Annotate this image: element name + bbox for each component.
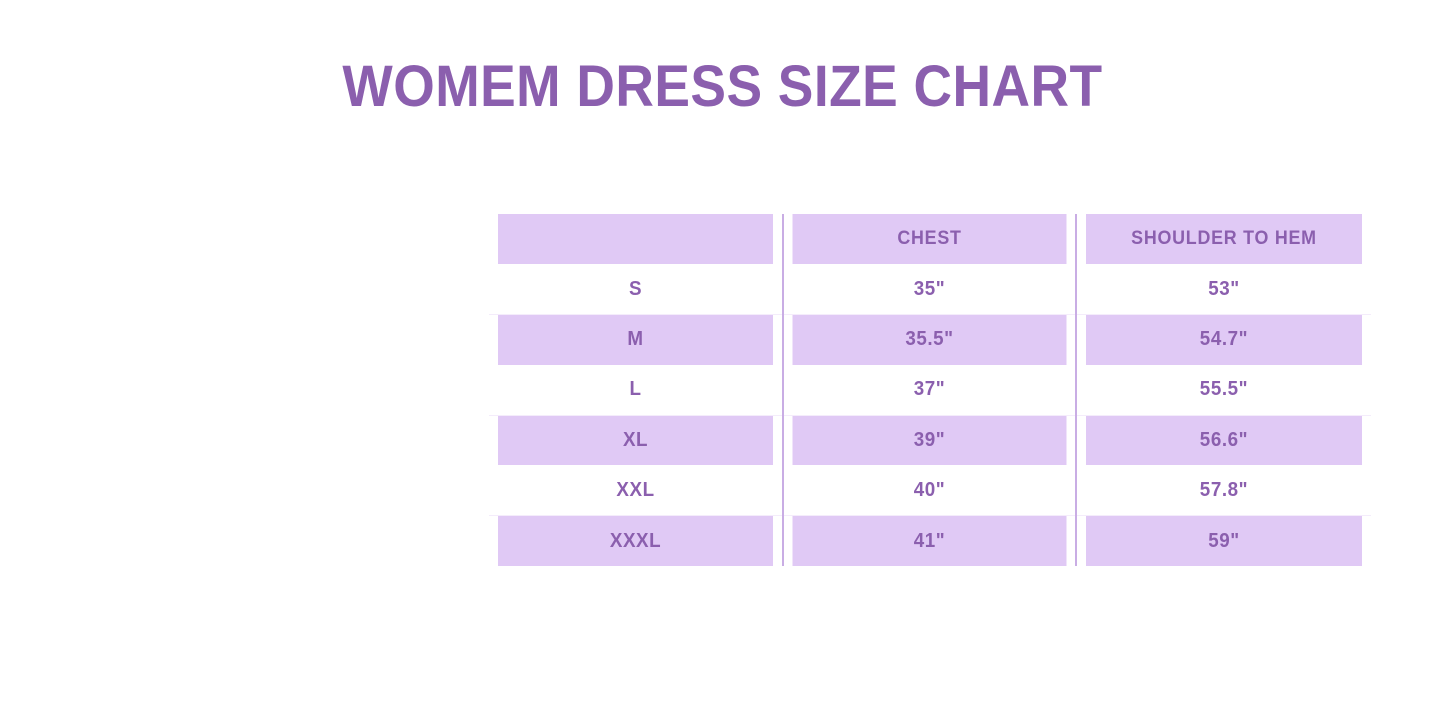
cell-hem: 54.7" [1085, 315, 1362, 365]
column-header-size [498, 214, 774, 264]
table-header-row: CHEST SHOULDER TO HEM [489, 214, 1371, 264]
cell-hem: 56.6" [1085, 415, 1362, 465]
cell-chest: 35.5" [792, 315, 1067, 365]
table-row: XXL 40" 57.8" [489, 465, 1371, 515]
cell-chest: 40" [792, 465, 1067, 515]
table-row: L 37" 55.5" [489, 365, 1371, 415]
table-row: XL 39" 56.6" [489, 415, 1371, 465]
size-chart-page: WOMEM DRESS SIZE CHART CHEST SHOULDER TO… [0, 0, 1445, 723]
cell-hem: 53" [1085, 264, 1362, 314]
cell-chest: 41" [792, 516, 1067, 566]
table-row: S 35" 53" [489, 264, 1371, 314]
column-header-shoulder-to-hem: SHOULDER TO HEM [1085, 214, 1362, 264]
cell-chest: 39" [792, 415, 1067, 465]
cell-hem: 57.8" [1085, 465, 1362, 515]
table-row: M 35.5" 54.7" [489, 315, 1371, 365]
cell-size: XXL [498, 465, 774, 515]
cell-size: S [498, 264, 774, 314]
cell-chest: 37" [792, 365, 1067, 415]
page-title: WOMEM DRESS SIZE CHART [58, 55, 1387, 119]
cell-size: XL [498, 415, 774, 465]
cell-size: L [498, 365, 774, 415]
cell-hem: 59" [1085, 516, 1362, 566]
cell-hem: 55.5" [1085, 365, 1362, 415]
column-header-chest: CHEST [792, 214, 1067, 264]
table-row: XXXL 41" 59" [489, 516, 1371, 566]
cell-size: XXXL [498, 516, 774, 566]
cell-chest: 35" [792, 264, 1067, 314]
cell-size: M [498, 315, 774, 365]
size-chart-table: CHEST SHOULDER TO HEM S 35" 53" M 35.5" … [489, 214, 1371, 566]
